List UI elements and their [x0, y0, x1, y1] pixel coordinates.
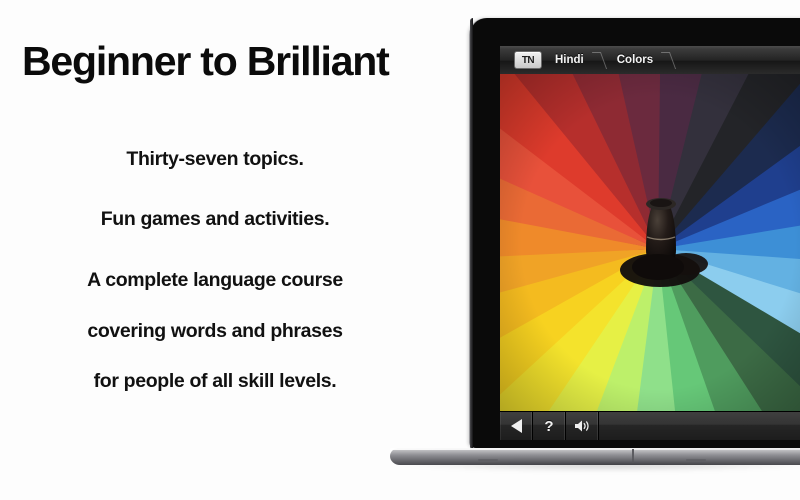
- app-toolbar: ?: [500, 411, 800, 440]
- promo-screenshot: Beginner to Brilliant Thirty-seven topic…: [0, 0, 800, 500]
- laptop-mockup: TN Hindi Colors: [386, 0, 800, 500]
- base-hinge-notch: [632, 449, 634, 463]
- breadcrumb-item-topic[interactable]: Colors: [617, 54, 653, 66]
- audio-button[interactable]: [566, 412, 599, 440]
- back-triangle-icon: [511, 419, 522, 433]
- list-item: Thirty-seven topics.: [0, 150, 430, 170]
- chevron-right-icon: [595, 51, 604, 69]
- base-foot: [478, 459, 498, 461]
- feature-list: Thirty-seven topics. Fun games and activ…: [0, 140, 430, 392]
- back-button[interactable]: [500, 412, 533, 440]
- laptop-shadow: [396, 463, 800, 472]
- page-title: Beginner to Brilliant: [22, 40, 442, 83]
- chevron-right-icon: [664, 51, 673, 69]
- help-button[interactable]: ?: [533, 412, 566, 440]
- marketing-copy: Beginner to Brilliant Thirty-seven topic…: [0, 0, 450, 500]
- list-item: for people of all skill levels.: [0, 372, 430, 392]
- speaker-icon: [574, 419, 591, 433]
- breadcrumb-item-language[interactable]: Hindi: [555, 54, 584, 66]
- app-logo-badge[interactable]: TN: [514, 51, 542, 69]
- list-item: covering words and phrases: [0, 322, 430, 342]
- list-item: A complete language course: [0, 271, 430, 291]
- base-foot: [686, 459, 706, 461]
- question-mark-icon: ?: [544, 419, 553, 434]
- breadcrumb: TN Hindi Colors: [500, 46, 800, 75]
- lesson-image: [500, 74, 800, 412]
- list-item: Fun games and activities.: [0, 210, 430, 230]
- app-screen: TN Hindi Colors: [500, 46, 800, 440]
